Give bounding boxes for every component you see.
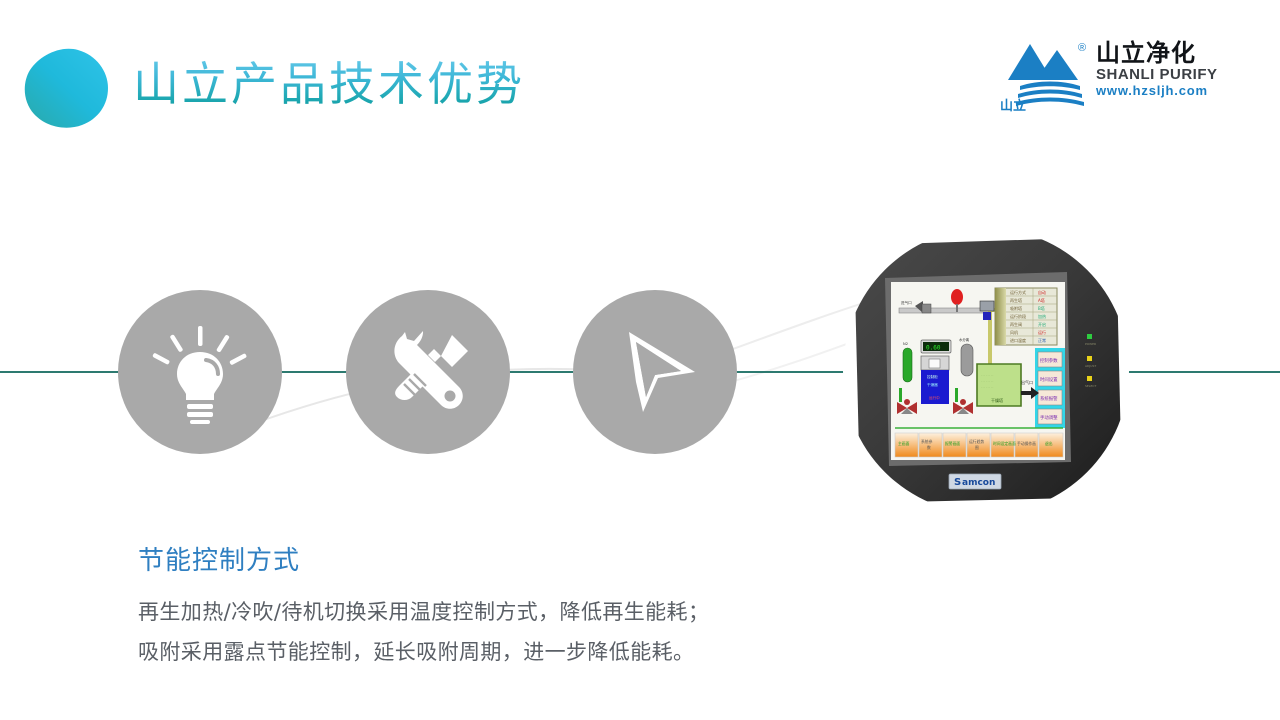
svg-text:A塔: A塔	[1038, 297, 1045, 303]
svg-text:运行方式: 运行方式	[1010, 289, 1026, 295]
svg-text:控制参数: 控制参数	[1040, 357, 1058, 364]
section-heading: 节能控制方式	[138, 540, 300, 577]
svg-text:风机: 风机	[1010, 329, 1018, 335]
svg-text:手动调整: 手动调整	[1040, 414, 1058, 421]
monitor-illustration: 运行方式再生塔 吸附塔运行阶段 再生阀风机 进口温度 自动A塔 B塔加热 开启运…	[849, 236, 1126, 506]
svg-text:系统报警: 系统报警	[1040, 395, 1058, 402]
svg-text:出气口: 出气口	[1021, 379, 1033, 385]
svg-text:系统参: 系统参	[921, 439, 933, 444]
svg-text:进气口: 进气口	[901, 300, 912, 305]
logo-name-cn: 山立净化	[1096, 40, 1218, 66]
logo-website: www.hzsljh.com	[1096, 83, 1218, 99]
svg-text:amcon: amcon	[962, 478, 995, 488]
svg-text:再生阀: 再生阀	[1010, 321, 1022, 327]
sidebar-item-tools[interactable]	[346, 290, 510, 454]
svg-text:报警画面: 报警画面	[945, 441, 960, 446]
wrench-screwdriver-icon	[378, 322, 478, 422]
svg-text:主画面: 主画面	[898, 441, 910, 446]
svg-text:运行阶段: 运行阶段	[1010, 313, 1026, 319]
svg-text:0.60: 0.60	[926, 345, 941, 352]
registered-mark: ®	[1078, 42, 1086, 54]
page-title: 山立产品技术优势	[133, 58, 525, 111]
svg-text:加热: 加热	[1038, 313, 1046, 319]
svg-text:SELECT: SELECT	[1085, 384, 1096, 388]
cursor-arrow-icon	[603, 320, 707, 424]
brand-logo: 山立 ® 山立净化 SHANLI PURIFY www.hzsljh.com	[1000, 38, 1218, 120]
svg-text:正常: 正常	[1038, 337, 1046, 343]
logo-text-block: 山立净化 SHANLI PURIFY www.hzsljh.com	[1096, 40, 1218, 99]
hmi-monitor-photo: 运行方式再生塔 吸附塔运行阶段 再生阀风机 进口温度 自动A塔 B塔加热 开启运…	[843, 228, 1129, 514]
mountain-logo-icon: 山立	[1000, 40, 1084, 114]
svg-text:运行趋势: 运行趋势	[969, 439, 984, 444]
body-paragraph: 再生加热/冷吹/待机切换采用温度控制方式，降低再生能耗； 吸附采用露点节能控制，…	[138, 592, 709, 672]
svg-text:山立: 山立	[1000, 98, 1026, 114]
body-line-1: 再生加热/冷吹/待机切换采用温度控制方式，降低再生能耗；	[138, 592, 709, 632]
logo-name-en: SHANLI PURIFY	[1096, 66, 1218, 83]
svg-text:· · · · · · · ·: · · · · · · · ·	[981, 386, 994, 389]
svg-text:POWER: POWER	[1085, 342, 1096, 346]
sidebar-item-idea[interactable]	[118, 290, 282, 454]
svg-text:开启: 开启	[1038, 321, 1046, 327]
svg-text:吸附塔: 吸附塔	[1010, 305, 1022, 311]
svg-text:数: 数	[927, 445, 931, 450]
svg-text:S: S	[954, 477, 961, 488]
svg-text:图: 图	[975, 445, 979, 450]
svg-text:· · · · · · · ·: · · · · · · · ·	[981, 380, 994, 383]
slide-root: 山立产品技术优势 山立 ® 山立净化 SHANLI PURIFY www.hzs…	[0, 0, 1280, 720]
body-line-2: 吸附采用露点节能控制，延长吸附周期，进一步降低能耗。	[138, 632, 709, 672]
sidebar-item-pointer[interactable]	[573, 290, 737, 454]
svg-text:手动操作画: 手动操作画	[1017, 441, 1036, 446]
svg-text:· · · · · · · ·: · · · · · · · ·	[981, 374, 994, 377]
svg-text:运行: 运行	[1038, 329, 1046, 335]
svg-text:运行中: 运行中	[929, 395, 940, 400]
svg-text:时间设定画面: 时间设定画面	[993, 441, 1016, 446]
svg-text:退出: 退出	[1045, 441, 1053, 446]
svg-text:干燥器: 干燥器	[927, 382, 938, 387]
svg-text:N2: N2	[903, 342, 908, 346]
svg-text:ADJUST: ADJUST	[1085, 364, 1096, 368]
svg-text:B塔: B塔	[1038, 305, 1045, 311]
svg-text:干燥塔: 干燥塔	[991, 397, 1003, 403]
lightbulb-icon	[148, 320, 252, 424]
svg-text:时间设置: 时间设置	[1040, 376, 1058, 383]
svg-text:水分离: 水分离	[959, 337, 970, 342]
svg-text:自动: 自动	[1038, 289, 1046, 295]
decorative-blob	[22, 47, 110, 129]
svg-text:再生塔: 再生塔	[1010, 297, 1022, 303]
svg-text:进口温度: 进口温度	[1010, 337, 1026, 343]
svg-text:控制柜: 控制柜	[927, 374, 938, 379]
